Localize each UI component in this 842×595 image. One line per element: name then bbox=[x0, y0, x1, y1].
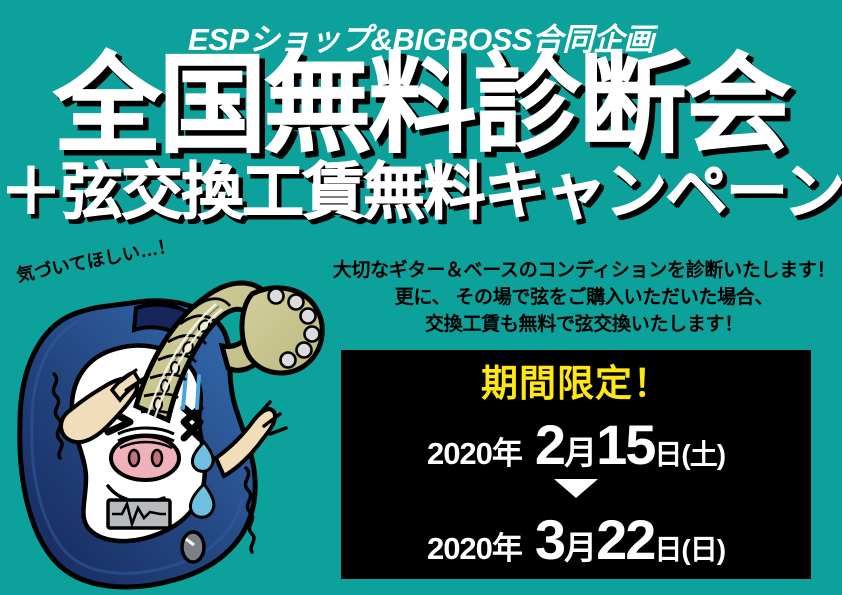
end-date-year: 2020年 bbox=[427, 531, 522, 566]
headline-group: 全国無料診断会 ＋弦交換工賃無料キャンペーン bbox=[0, 52, 842, 224]
description-line-2: 更に、 その場で弦をご購入いただいた場合、 bbox=[330, 285, 838, 312]
start-date-weekday: (土) bbox=[681, 439, 725, 470]
description-line-3: 交換工賃も無料で弦交換いたします！ bbox=[330, 312, 838, 339]
guitar-mascot-illustration bbox=[8, 262, 338, 595]
limited-time-badge: 期間限定！ bbox=[341, 364, 811, 405]
end-date-day: 22 bbox=[596, 508, 654, 571]
down-triangle-icon bbox=[554, 479, 598, 498]
end-date-month-unit: 月 bbox=[564, 529, 596, 566]
start-date: 2020年2月15日(土) bbox=[341, 417, 811, 473]
date-panel: 期間限定！ 2020年2月15日(土) 2020年3月22日(日) bbox=[341, 350, 811, 579]
description-block: 大切なギター＆ベースのコンディションを診断いたします！ 更に、 その場で弦をご購… bbox=[330, 258, 838, 339]
end-date-day-unit: 日 bbox=[654, 534, 681, 565]
start-date-month-unit: 月 bbox=[564, 434, 596, 471]
headline-secondary: ＋弦交換工賃無料キャンペーン bbox=[0, 162, 842, 224]
start-date-day-unit: 日 bbox=[654, 439, 681, 470]
start-date-day: 15 bbox=[596, 413, 654, 476]
end-date-month: 3 bbox=[535, 508, 564, 571]
promo-banner: ESPショップ&BIGBOSS合同企画 全国無料診断会 ＋弦交換工賃無料キャンペ… bbox=[0, 0, 842, 595]
pickup-waveform bbox=[108, 500, 170, 528]
description-line-1: 大切なギター＆ベースのコンディションを診断いたします！ bbox=[330, 258, 838, 285]
control-knob bbox=[182, 532, 204, 562]
headstock-tuning-pegs bbox=[242, 288, 322, 373]
headline-primary: 全国無料診断会 bbox=[0, 52, 842, 158]
end-date: 2020年3月22日(日) bbox=[341, 512, 811, 568]
end-date-weekday: (日) bbox=[681, 534, 725, 565]
start-date-month: 2 bbox=[535, 413, 564, 476]
start-date-year: 2020年 bbox=[427, 436, 522, 471]
